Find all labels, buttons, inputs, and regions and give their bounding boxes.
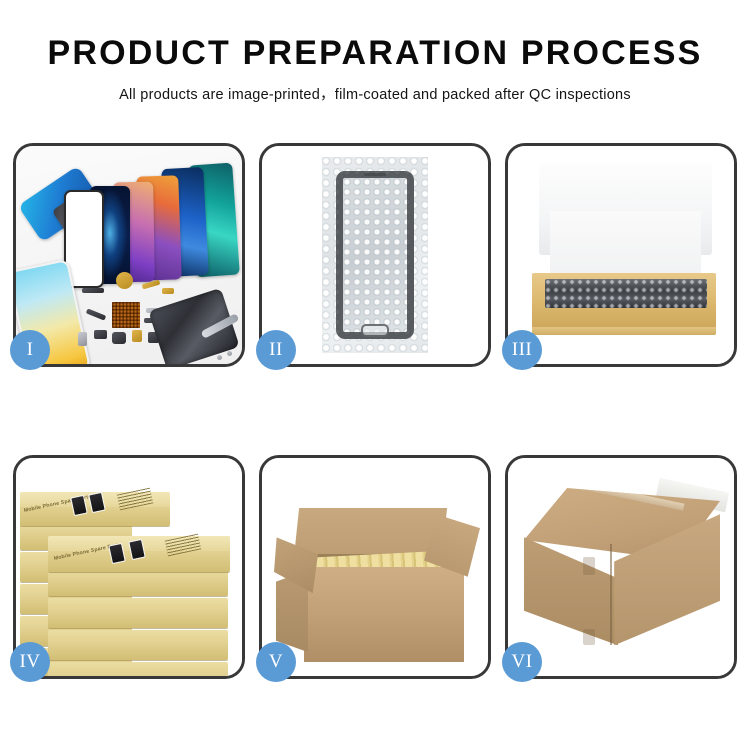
process-step-panel-4[interactable]: Mobile Phone Spare Parts Mobile Phone Sp…: [13, 455, 245, 679]
ic-chip-array: [112, 302, 140, 328]
home-button-cutout: [361, 324, 389, 337]
process-step-grid: I II III: [13, 143, 737, 679]
ribbon-cable-part: [86, 308, 106, 320]
carton-front-face: [304, 567, 464, 662]
page-header: PRODUCT PREPARATION PROCESS All products…: [0, 0, 750, 104]
box-stack: Mobile Phone Spare Parts Mobile Phone Sp…: [20, 480, 236, 672]
bubble-wrap-sheet: [322, 157, 428, 353]
page-title: PRODUCT PREPARATION PROCESS: [0, 0, 750, 72]
step-5-image: [262, 458, 488, 676]
step-4-image: Mobile Phone Spare Parts Mobile Phone Sp…: [16, 458, 242, 676]
step-6-image: [508, 458, 734, 676]
step-numeral-badge-1: I: [10, 330, 50, 370]
process-step-panel-5[interactable]: V: [259, 455, 491, 679]
sim-tray-part: [78, 332, 87, 346]
carton-flap-notch: [583, 557, 595, 575]
step-2-image: [262, 146, 488, 364]
sealed-carton: [524, 488, 720, 652]
packed-screen: [545, 279, 707, 307]
step-3-image: [508, 146, 734, 364]
open-kraft-box: [532, 160, 716, 342]
step-numeral-badge-2: II: [256, 330, 296, 370]
step-numeral-badge-3: III: [502, 330, 542, 370]
box-tray: [532, 273, 716, 335]
speaker-part: [116, 272, 133, 289]
wrapped-screen: [336, 171, 414, 339]
camera-module-part: [94, 330, 107, 339]
box-front-wall: [532, 327, 716, 334]
process-step-panel-2[interactable]: II: [259, 143, 491, 367]
carton-corner-seam: [610, 544, 612, 646]
screw-part: [227, 351, 232, 356]
battery-connector-part: [132, 330, 142, 342]
vibrator-part: [112, 332, 126, 344]
process-step-panel-3[interactable]: III: [505, 143, 737, 367]
connector-part: [162, 288, 174, 294]
top-stacked-box: Mobile Phone Spare Parts: [48, 536, 230, 572]
process-step-panel-1[interactable]: I: [13, 143, 245, 367]
open-carton: [276, 498, 476, 662]
step-numeral-badge-6: VI: [502, 642, 542, 682]
flex-cable-part: [82, 288, 104, 293]
stacked-box: [48, 630, 228, 660]
step-numeral-badge-4: IV: [10, 642, 50, 682]
process-step-panel-6[interactable]: VI: [505, 455, 737, 679]
stacked-box: [48, 662, 228, 676]
carton-flap-notch: [583, 629, 595, 645]
page-subtitle: All products are image-printed，film-coat…: [0, 72, 750, 104]
stacked-box: [48, 598, 228, 628]
step-numeral-badge-5: V: [256, 642, 296, 682]
carton-left-face: [524, 537, 618, 645]
screw-part: [217, 355, 222, 360]
top-stacked-box: Mobile Phone Spare Parts: [20, 492, 170, 526]
step-1-image: [16, 146, 242, 364]
earpiece-slot: [364, 173, 386, 176]
